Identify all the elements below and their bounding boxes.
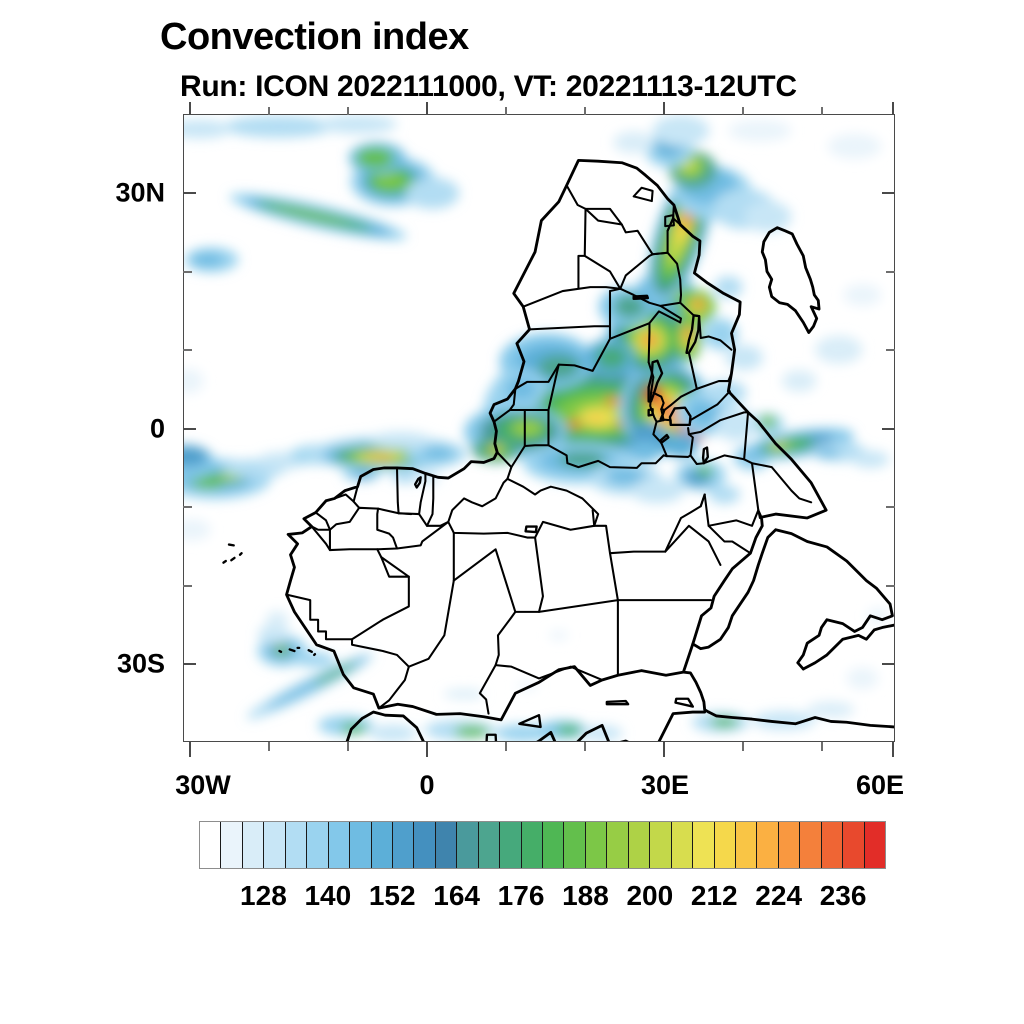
cyprus-coast (675, 699, 692, 707)
colorbar-tick-label: 200 (626, 880, 673, 912)
colorbar-cell (757, 822, 778, 868)
colorbar-cell (307, 822, 328, 868)
field-arabia (692, 608, 889, 732)
field-gulf-of-guinea (310, 432, 468, 484)
colorbar-cell (607, 822, 628, 868)
gulf-coast-iran (803, 625, 894, 669)
colorbar-cell (586, 822, 607, 868)
colorbar-cell (221, 822, 242, 868)
colorbar-cell (414, 822, 435, 868)
x-tick-label-0: 0 (419, 770, 434, 801)
colorbar-tick-labels: 128140152164176188200212224236 (199, 880, 886, 918)
map-canvas (184, 115, 894, 741)
x-tick-label-60e: 60E (856, 770, 904, 801)
colorbar-tick-label: 164 (433, 880, 480, 912)
cape-verde-islands (223, 545, 241, 563)
figure-root: Convection index Run: ICON 2022111000, V… (0, 0, 1024, 1024)
colorbar-tick-label: 236 (820, 880, 867, 912)
colorbar-cell (865, 822, 885, 868)
colorbar-cell (372, 822, 393, 868)
colorbar-cell (329, 822, 350, 868)
page-title: Convection index (160, 16, 469, 59)
colorbar-tick-label: 140 (304, 880, 351, 912)
colorbar-cell (736, 822, 757, 868)
y-tick-label-30n: 30N (100, 178, 165, 209)
colorbar-cell (672, 822, 693, 868)
arabia-coastline (693, 530, 893, 669)
colorbar-cell (350, 822, 371, 868)
colorbar-cell (200, 822, 221, 868)
colorbar-cell (822, 822, 843, 868)
colorbar-cell (393, 822, 414, 868)
y-tick-label-0: 0 (100, 414, 165, 445)
colorbar-tick-label: 152 (369, 880, 416, 912)
field-north-africa (243, 611, 623, 741)
y-tick-label-30s: 30S (100, 649, 165, 680)
field-mozambique-plume (613, 115, 791, 311)
x-tick-label-30e: 30E (641, 770, 689, 801)
run-info-subtitle: Run: ICON 2022111000, VT: 20221113-12UTC (180, 70, 797, 104)
colorbar-tick-label: 212 (691, 880, 738, 912)
colorbar-cell (479, 822, 500, 868)
colorbar-cell (264, 822, 285, 868)
colorbar-cell (243, 822, 264, 868)
colorbar-tick-label: 188 (562, 880, 609, 912)
colorbar-cell (693, 822, 714, 868)
colorbar-cell (629, 822, 650, 868)
colorbar-cell (500, 822, 521, 868)
colorbar-cell (286, 822, 307, 868)
colorbar-cell (564, 822, 585, 868)
colorbar-cell (457, 822, 478, 868)
sicily-coast (519, 715, 540, 727)
colorbar-cell (715, 822, 736, 868)
x-tick-label-30w: 30W (175, 770, 231, 801)
field-south-atlantic-front (184, 115, 459, 272)
colorbar-cell (522, 822, 543, 868)
convection-field (184, 115, 889, 741)
colorbar-cell (650, 822, 671, 868)
colorbar[interactable] (199, 821, 886, 869)
colorbar-cell (843, 822, 864, 868)
colorbar-cell (779, 822, 800, 868)
colorbar-tick-label: 176 (498, 880, 545, 912)
colorbar-tick-label: 224 (755, 880, 802, 912)
colorbar-cell (800, 822, 821, 868)
colorbar-cell (436, 822, 457, 868)
sardinia-coast (486, 735, 496, 741)
colorbar-tick-label: 128 (240, 880, 287, 912)
crete-coast (607, 701, 628, 704)
madagascar-coastline (762, 228, 819, 333)
colorbar-cell (543, 822, 564, 868)
lake-chad (526, 527, 537, 532)
map-plot-area (183, 114, 895, 742)
